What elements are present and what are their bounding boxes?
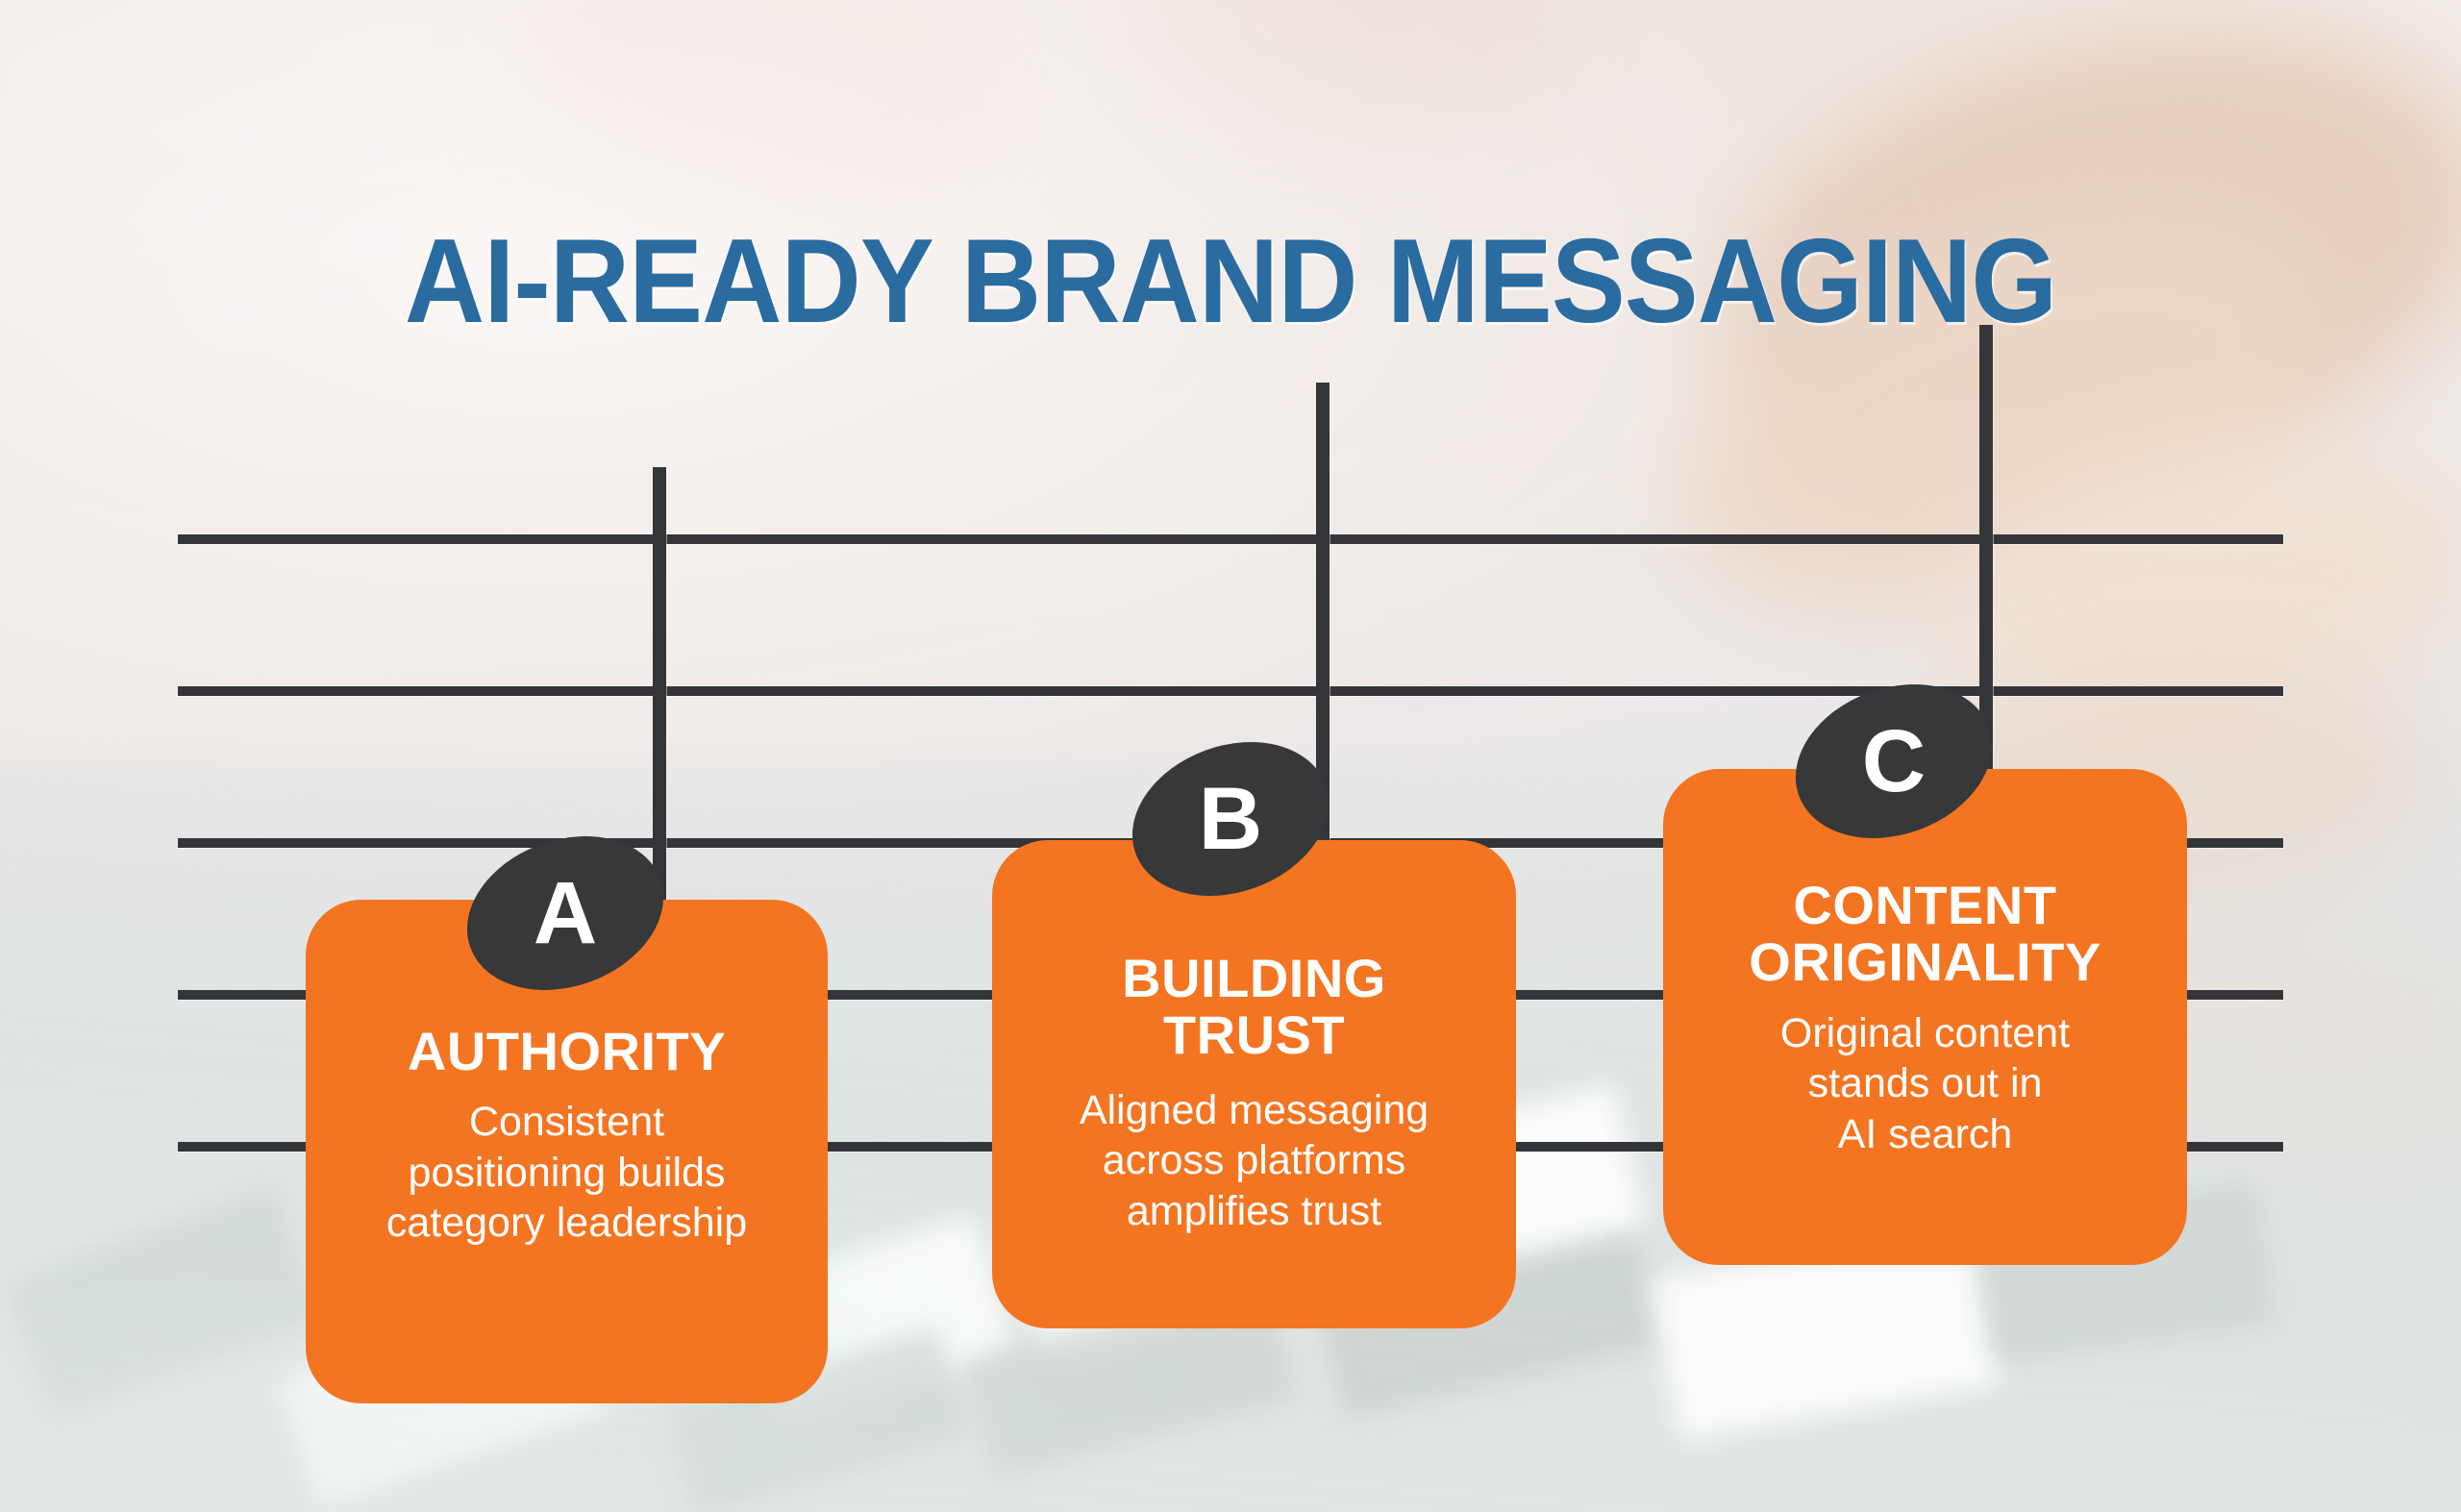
card-description: Consistent positioning builds category l… (386, 1097, 747, 1248)
card-title: CONTENT ORIGINALITY (1749, 877, 2101, 991)
card-description: Original content stands out in AI search (1780, 1008, 2070, 1159)
card-content-originality[interactable]: CONTENT ORIGINALITY Original content sta… (1663, 769, 2187, 1265)
card-title: BUILDING TRUST (1122, 950, 1386, 1064)
note-badge-c[interactable]: C (1793, 688, 1995, 834)
infographic-canvas: AI-READY BRAND MESSAGING AUTHORITY Consi… (0, 0, 2461, 1512)
card-building-trust[interactable]: BUILDING TRUST Aligned messaging across … (992, 840, 1516, 1328)
page-title: AI-READY BRAND MESSAGING (87, 222, 2375, 341)
note-badge-a[interactable]: A (464, 840, 666, 986)
badge-letter: A (534, 869, 597, 957)
staff-line-1 (178, 534, 2283, 544)
card-description: Aligned messaging across platforms ampli… (1080, 1085, 1429, 1236)
badge-letter: B (1199, 775, 1262, 863)
note-badge-b[interactable]: B (1130, 746, 1331, 892)
badge-letter: C (1862, 717, 1926, 806)
card-title: AUTHORITY (408, 1023, 726, 1079)
